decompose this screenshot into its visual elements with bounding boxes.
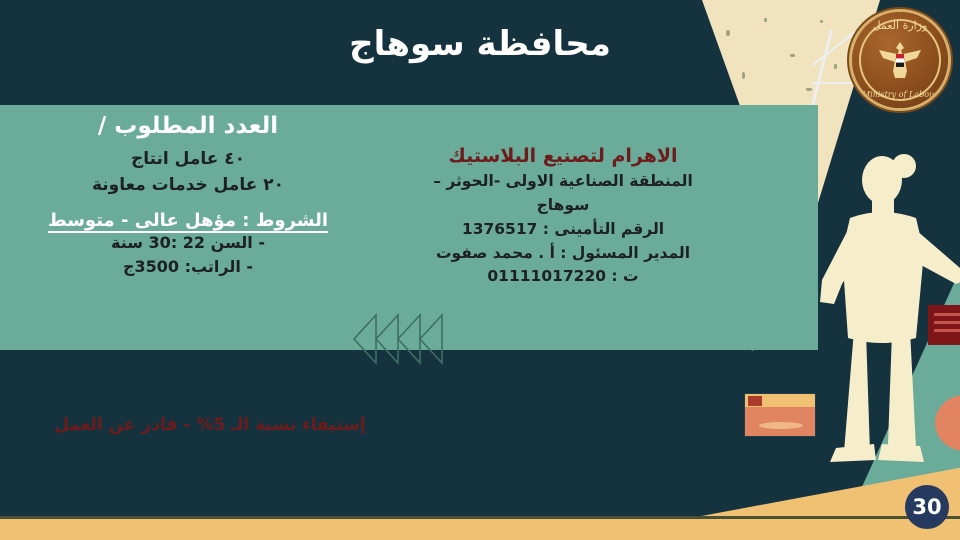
requirement-line: ٢٠ عامل خدمات معاونة — [13, 173, 363, 199]
eligibility-note: إستيفاء نسبة الـ 5% - قادر عن العمل — [0, 415, 420, 435]
peach-card-blotch — [748, 396, 762, 406]
orange-blob-shape — [935, 395, 960, 451]
peach-card-graphic — [744, 393, 816, 437]
requirement-line: ٤٠ عامل انتاج — [13, 147, 363, 173]
person-silhouette-illustration — [820, 152, 960, 482]
requirements-column: العدد المطلوب / ٤٠ عامل انتاج ٢٠ عامل خد… — [13, 113, 363, 279]
seal-english-text: Ministry of Labour — [852, 90, 948, 99]
peach-card-lower — [745, 407, 815, 436]
diagonal-accent-line-3 — [812, 82, 882, 84]
required-count-heading: العدد المطلوب / — [13, 113, 363, 139]
slide-canvas: وزارة العمل Ministry of Labou — [0, 0, 960, 540]
conditions-heading-text: الشروط : مؤهل عالى - متوسط — [48, 210, 328, 233]
page-number-badge: 30 — [905, 485, 949, 529]
condition-line: - الراتب: 3500ج — [13, 255, 363, 279]
company-name: الاهرام لتصنيع البلاستيك — [418, 145, 708, 168]
conditions-heading: الشروط : مؤهل عالى - متوسط — [13, 210, 363, 231]
company-address-line-2: سوهاج — [418, 195, 708, 216]
bottom-sand-bar — [0, 519, 960, 540]
company-phone-number: ت : 01111017220 — [418, 266, 708, 287]
company-manager-name: المدير المسئول : أ . محمد صفوت — [418, 243, 708, 264]
red-card-graphic — [928, 305, 960, 345]
company-address-line-1: المنطقة الصناعية الاولى -الحوثر – — [418, 171, 708, 192]
company-insurance-number: الرقم التأمينى : 1376517 — [418, 219, 708, 240]
condition-line: - السن 22 :30 سنة — [13, 231, 363, 255]
peach-card-wave — [759, 422, 803, 429]
company-details-column: الاهرام لتصنيع البلاستيك المنطقة الصناعي… — [418, 145, 708, 287]
chevron-arrows-decoration — [352, 313, 448, 365]
main-content-panel: العدد المطلوب / ٤٠ عامل انتاج ٢٠ عامل خد… — [0, 105, 818, 350]
page-title: محافظة سوهاج — [0, 24, 960, 64]
